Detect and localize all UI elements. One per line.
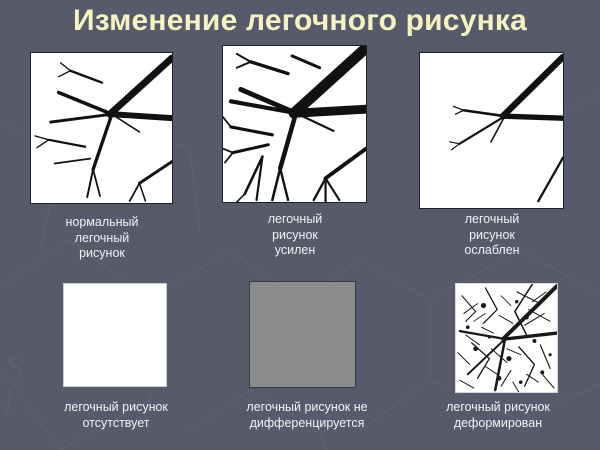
caption-absent: легочный рисунок отсутствует <box>18 400 214 431</box>
svg-text:l: l <box>4 383 13 420</box>
slide: S l Изменение легочного рисунка <box>0 0 600 450</box>
lung-pattern-enhanced-image <box>222 45 367 203</box>
lung-pattern-weakened-image <box>419 52 564 209</box>
page-title: Изменение легочного рисунка <box>0 4 600 38</box>
branching-vessel-tree-enhanced-icon <box>223 46 366 202</box>
caption-enhanced: легочный рисунок усилен <box>220 212 370 259</box>
branching-vessel-tree-weakened-icon <box>420 53 563 208</box>
lung-pattern-undifferentiated-image <box>249 281 356 388</box>
caption-weakened: легочный рисунок ослаблен <box>416 212 568 259</box>
svg-text:S: S <box>6 349 23 386</box>
lung-pattern-normal-image <box>30 52 173 204</box>
caption-deformed: легочный рисунок деформирован <box>400 400 596 431</box>
branching-vessel-tree-normal-icon <box>31 53 172 203</box>
caption-normal: нормальный легочный рисунок <box>22 215 182 262</box>
lung-pattern-absent-image <box>63 283 167 387</box>
dense-mesh-pattern-deformed-icon <box>456 284 557 392</box>
lung-pattern-deformed-image <box>455 283 558 393</box>
caption-undifferentiated: легочный рисунок не дифференцируется <box>207 400 407 431</box>
